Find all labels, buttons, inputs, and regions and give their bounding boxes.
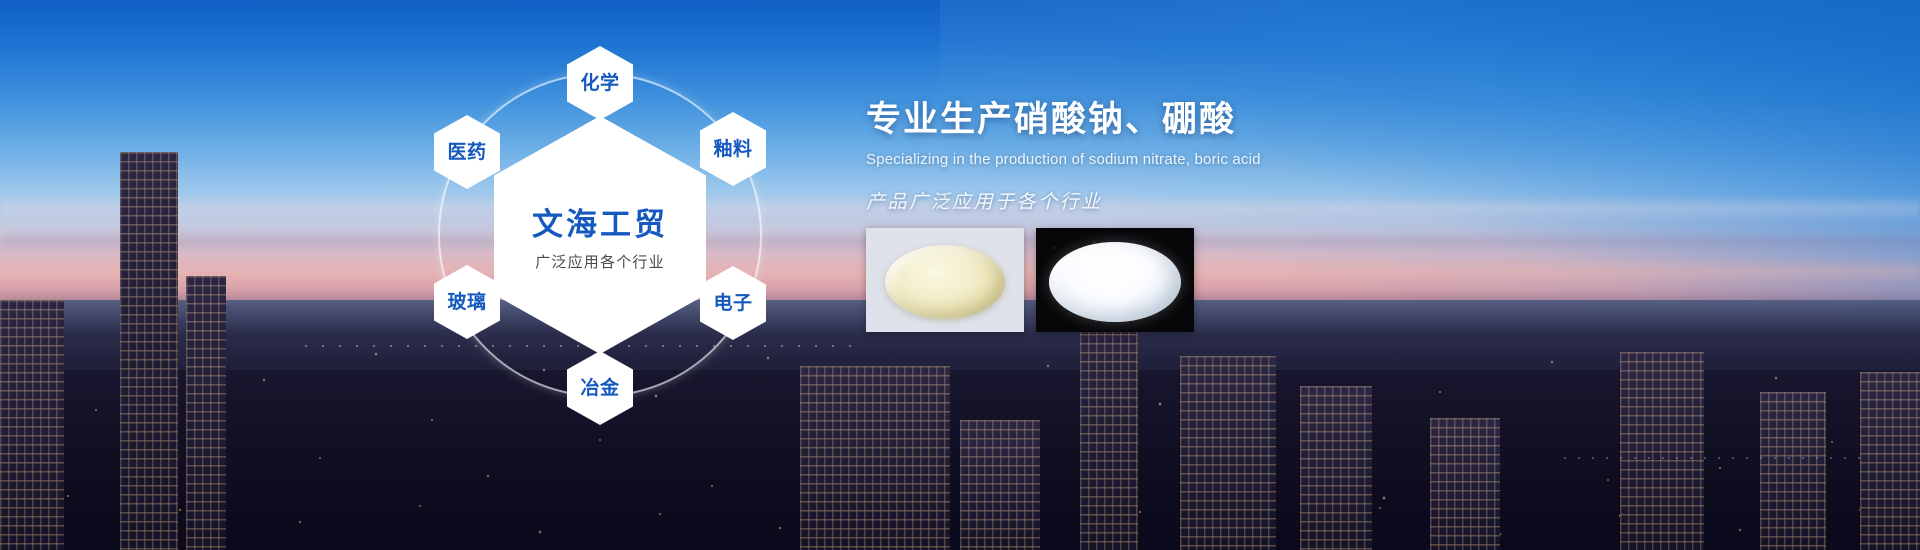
hex-label-chemical: 化学 (580, 74, 619, 93)
skyscraper (1180, 356, 1276, 550)
skyscraper (1620, 352, 1704, 550)
skyscraper (186, 276, 226, 550)
powder-grain-texture (1036, 228, 1194, 332)
skyscraper (1760, 392, 1826, 550)
product-photo-boric-acid[interactable] (1036, 228, 1194, 332)
skyscraper (0, 300, 64, 550)
hex-label-metallurgy: 冶金 (580, 379, 619, 398)
skyscraper (1080, 316, 1138, 550)
skyscraper (120, 152, 178, 550)
industry-hex-diagram: 文海工贸 广泛应用各个行业 化学 釉料 医药 电子 玻璃 冶金 (390, 25, 810, 445)
bridge-lights (1560, 452, 1860, 466)
skyscraper (1430, 418, 1500, 550)
hex-label-glaze: 釉料 (713, 140, 752, 159)
skyscraper (1860, 372, 1920, 550)
company-name: 文海工贸 (532, 199, 668, 244)
skyscraper (1300, 386, 1372, 550)
hex-label-electronics: 电子 (713, 294, 752, 313)
skyscraper (800, 366, 950, 550)
promo-banner: 文海工贸 广泛应用各个行业 化学 釉料 医药 电子 玻璃 冶金 专业生产硝酸钠、… (0, 0, 1920, 550)
headline: 专业生产硝酸钠、硼酸 (866, 98, 1566, 142)
product-photo-strip (866, 228, 1194, 332)
copy-block: 专业生产硝酸钠、硼酸 Specializing in the productio… (866, 98, 1566, 214)
hex-label-glass: 玻璃 (447, 293, 486, 312)
product-photo-sodium-nitrate[interactable] (866, 228, 1024, 332)
hex-label-pharma: 医药 (447, 143, 486, 162)
company-tagline: 广泛应用各个行业 (535, 251, 665, 272)
tagline: 产品广泛应用于各个行业 (866, 187, 1566, 214)
skyscraper (960, 420, 1040, 550)
powder-grain-texture (866, 228, 1024, 332)
subheadline-english: Specializing in the production of sodium… (866, 151, 1566, 168)
